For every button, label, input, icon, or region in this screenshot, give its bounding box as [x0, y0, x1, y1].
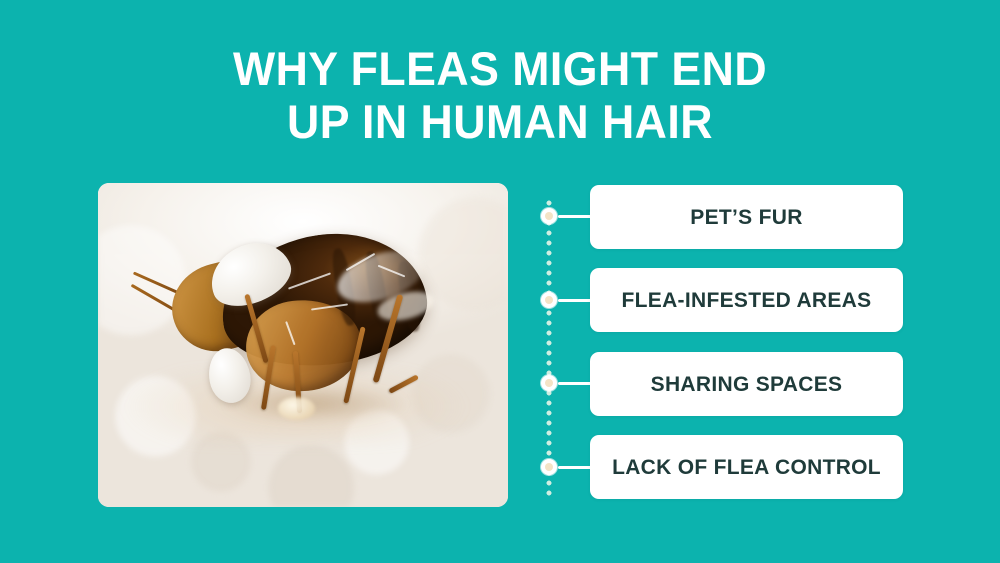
connector-line-1 [558, 215, 592, 218]
reason-card-4-label: LACK OF FLEA CONTROL [600, 455, 893, 480]
reason-card-4[interactable]: LACK OF FLEA CONTROL [590, 435, 903, 499]
flea-illustration [98, 183, 508, 507]
flea-photo [98, 183, 508, 507]
reason-card-2-label: FLEA-INFESTED AREAS [610, 288, 884, 313]
timeline-node-1[interactable] [541, 208, 557, 224]
timeline-node-2[interactable] [541, 292, 557, 308]
flea-fluid-drop [278, 397, 315, 420]
timeline-node-inner-icon [545, 212, 553, 220]
title-line-2: UP IN HUMAN HAIR [25, 95, 975, 148]
flea-shadow [221, 384, 410, 423]
reason-card-1[interactable]: PET’S FUR [590, 185, 903, 249]
connector-line-3 [558, 382, 592, 385]
timeline-dotted-line [546, 200, 552, 500]
flea-photo-image [98, 183, 508, 507]
slide-canvas: WHY FLEAS MIGHT END UP IN HUMAN HAIR [0, 0, 1000, 563]
timeline-node-4[interactable] [541, 459, 557, 475]
timeline-node-3[interactable] [541, 375, 557, 391]
connector-line-4 [558, 466, 592, 469]
reason-card-3-label: SHARING SPACES [639, 372, 855, 397]
timeline-node-inner-icon [545, 379, 553, 387]
reason-card-2[interactable]: FLEA-INFESTED AREAS [590, 268, 903, 332]
reason-card-1-label: PET’S FUR [678, 205, 814, 230]
reason-card-3[interactable]: SHARING SPACES [590, 352, 903, 416]
timeline-node-inner-icon [545, 296, 553, 304]
timeline-rail [546, 200, 552, 500]
timeline-node-inner-icon [545, 463, 553, 471]
page-title: WHY FLEAS MIGHT END UP IN HUMAN HAIR [25, 42, 975, 148]
title-line-1: WHY FLEAS MIGHT END [25, 42, 975, 95]
connector-line-2 [558, 299, 592, 302]
